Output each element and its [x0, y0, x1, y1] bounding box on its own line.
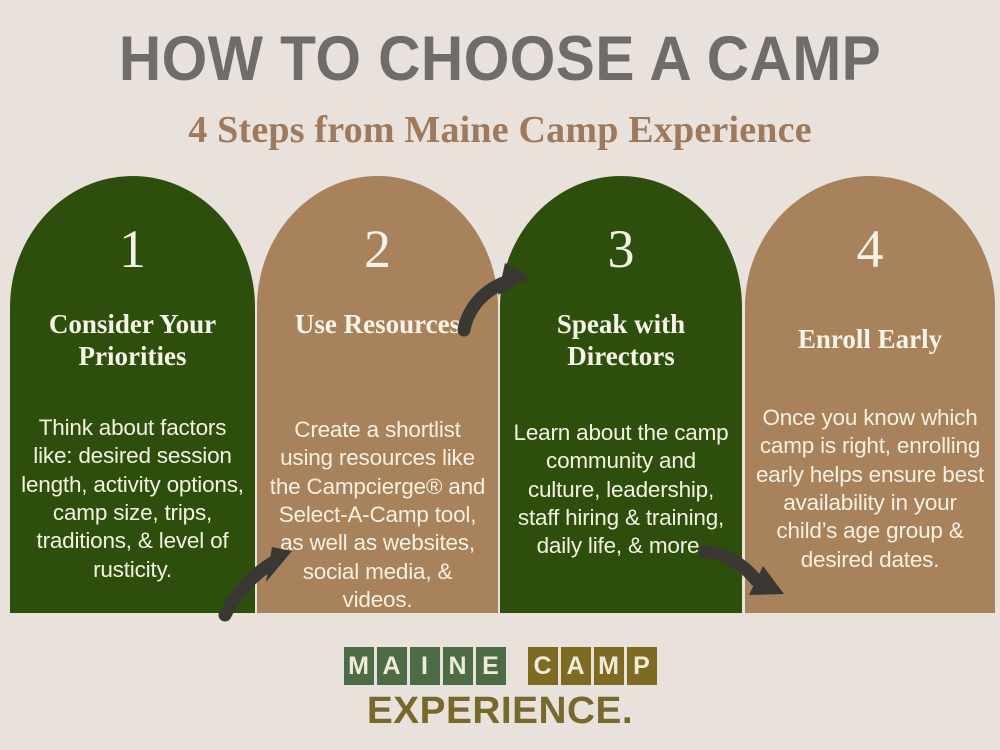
step-card-2: 2 Use Resources Create a shortlist using…	[257, 176, 498, 613]
step-heading-2: Use Resources	[257, 309, 498, 341]
logo-tile-p: P	[627, 647, 657, 685]
logo-tile-a2: A	[561, 647, 591, 685]
logo-tile-n: N	[443, 647, 473, 685]
step-body-2: Create a shortlist using resources like …	[257, 416, 498, 613]
logo-tile-i: I	[410, 647, 440, 685]
logo-wordmark-experience: EXPERIENCE.	[0, 690, 1000, 733]
step-body-4: Once you know which camp is right, enrol…	[745, 404, 995, 574]
logo-tile-m: M	[344, 647, 374, 685]
logo-tile-c: C	[528, 647, 558, 685]
logo-tile-m2: M	[594, 647, 624, 685]
step-body-3: Learn about the camp community and cultu…	[500, 419, 742, 561]
step-heading-3: Speak with Directors	[500, 309, 742, 372]
logo-tile-a1: A	[377, 647, 407, 685]
step-card-4: 4 Enroll Early Once you know which camp …	[745, 176, 995, 613]
logo-tiles-row: M A I N E C A M P	[0, 646, 1000, 686]
step-number-2: 2	[257, 222, 498, 276]
step-card-1: 1 Consider Your Priorities Think about f…	[10, 176, 255, 613]
step-heading-1: Consider Your Priorities	[10, 309, 255, 372]
step-heading-4: Enroll Early	[745, 324, 995, 356]
brand-logo: M A I N E C A M P EXPERIENCE.	[0, 646, 1000, 733]
steps-container: 1 Consider Your Priorities Think about f…	[0, 0, 1000, 750]
step-number-4: 4	[745, 222, 995, 276]
step-number-3: 3	[500, 222, 742, 276]
step-card-3: 3 Speak with Directors Learn about the c…	[500, 176, 742, 613]
logo-tile-e: E	[476, 647, 506, 685]
step-body-1: Think about factors like: desired sessio…	[10, 414, 255, 584]
infographic-canvas: HOW TO CHOOSE A CAMP 4 Steps from Maine …	[0, 0, 1000, 750]
step-number-1: 1	[10, 222, 255, 276]
